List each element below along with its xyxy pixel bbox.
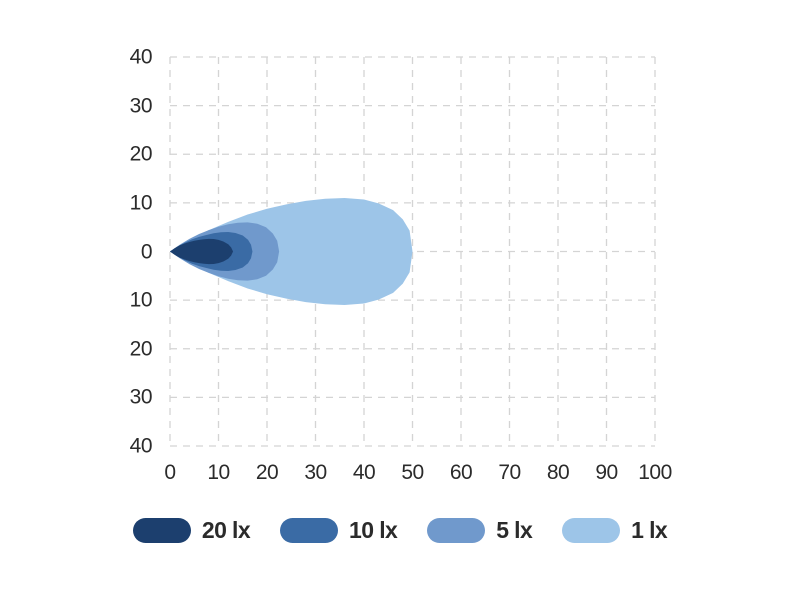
beam-pattern-chart: 40302010010203040 0102030405060708090100… xyxy=(0,0,800,600)
x-axis-tick-label: 20 xyxy=(256,462,278,483)
x-axis-tick-label: 0 xyxy=(164,462,175,483)
x-axis-tick-label: 70 xyxy=(498,462,520,483)
legend-item[interactable]: 5 lx xyxy=(427,518,532,543)
legend-item[interactable]: 1 lx xyxy=(562,518,667,543)
x-axis-tick-label: 30 xyxy=(304,462,326,483)
x-axis-tick-label: 80 xyxy=(547,462,569,483)
chart-legend: 20 lx10 lx5 lx1 lx xyxy=(0,518,800,543)
beam-contour-20-lx xyxy=(170,239,233,264)
x-axis-tick-label: 60 xyxy=(450,462,472,483)
legend-swatch xyxy=(427,518,485,543)
x-axis-tick-label: 90 xyxy=(595,462,617,483)
y-axis-tick-label: 40 xyxy=(0,436,152,457)
legend-label: 10 lx xyxy=(349,519,397,542)
y-axis-tick-label: 10 xyxy=(0,290,152,311)
y-axis-tick-label: 30 xyxy=(0,95,152,116)
legend-swatch xyxy=(133,518,191,543)
x-axis-tick-label: 40 xyxy=(353,462,375,483)
x-axis-tick-label: 100 xyxy=(638,462,672,483)
legend-swatch xyxy=(562,518,620,543)
y-axis-tick-label: 20 xyxy=(0,144,152,165)
beam-contours xyxy=(170,198,413,305)
legend-label: 5 lx xyxy=(496,519,532,542)
legend-label: 20 lx xyxy=(202,519,250,542)
legend-item[interactable]: 20 lx xyxy=(133,518,250,543)
x-axis-tick-label: 10 xyxy=(207,462,229,483)
legend-item[interactable]: 10 lx xyxy=(280,518,397,543)
y-axis-tick-label: 20 xyxy=(0,338,152,359)
y-axis-tick-label: 10 xyxy=(0,192,152,213)
y-axis-tick-label: 40 xyxy=(0,47,152,68)
x-axis-tick-label: 50 xyxy=(401,462,423,483)
y-axis-tick-label: 30 xyxy=(0,387,152,408)
legend-swatch xyxy=(280,518,338,543)
y-axis-tick-label: 0 xyxy=(0,241,152,262)
legend-label: 1 lx xyxy=(631,519,667,542)
